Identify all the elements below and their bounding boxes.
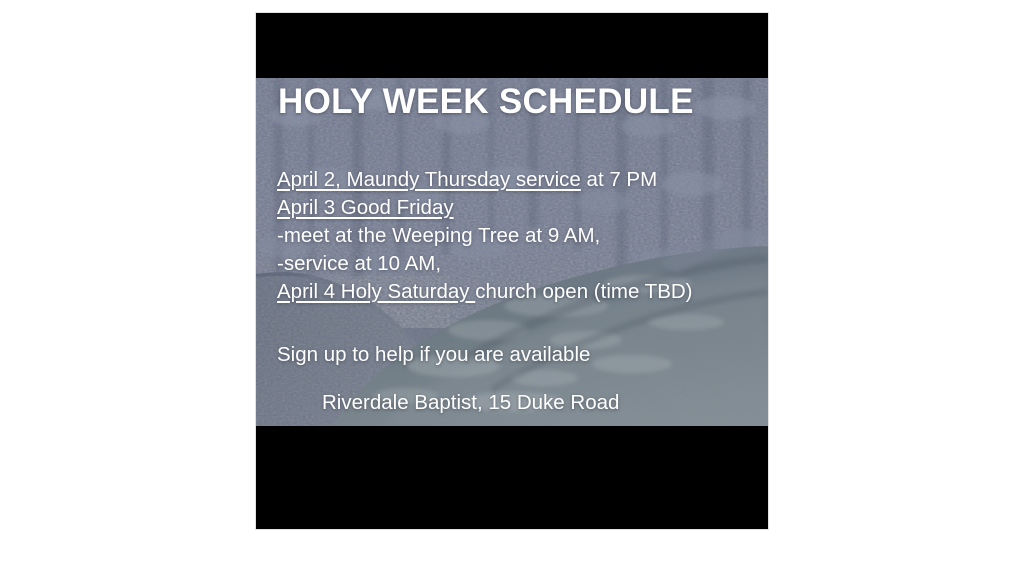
schedule-line-5-underlined: April 4 Holy Saturday [277, 280, 475, 303]
signup-callout: Sign up to help if you are available [277, 341, 590, 369]
list-item: April 4 Holy Saturday church open (time … [277, 278, 693, 306]
list-item: April 3 Good Friday [277, 194, 693, 222]
schedule-line-2-underlined: April 3 Good Friday [277, 196, 454, 219]
page-title: HOLY WEEK SCHEDULE [278, 84, 694, 119]
schedule-line-1-underlined: April 2, Maundy Thursday service [277, 168, 581, 191]
schedule-line-4-plain: -service at 10 AM, [277, 252, 441, 275]
church-address: Riverdale Baptist, 15 Duke Road [322, 389, 619, 417]
letterboxed-image-panel: HOLY WEEK SCHEDULE April 2, Maundy Thurs… [256, 13, 768, 529]
list-item: -service at 10 AM, [277, 250, 693, 278]
slide-text-layer: HOLY WEEK SCHEDULE April 2, Maundy Thurs… [256, 78, 768, 426]
schedule-line-1-plain: at 7 PM [581, 168, 657, 191]
list-item: April 2, Maundy Thursday service at 7 PM [277, 166, 693, 194]
schedule-line-5-plain: church open (time TBD) [475, 280, 692, 303]
winter-forest-photo: HOLY WEEK SCHEDULE April 2, Maundy Thurs… [256, 78, 768, 426]
schedule-line-3-plain: -meet at the Weeping Tree at 9 AM, [277, 224, 600, 247]
slide-canvas: HOLY WEEK SCHEDULE April 2, Maundy Thurs… [0, 0, 1024, 576]
schedule-list: April 2, Maundy Thursday service at 7 PM… [277, 166, 693, 306]
list-item: -meet at the Weeping Tree at 9 AM, [277, 222, 693, 250]
